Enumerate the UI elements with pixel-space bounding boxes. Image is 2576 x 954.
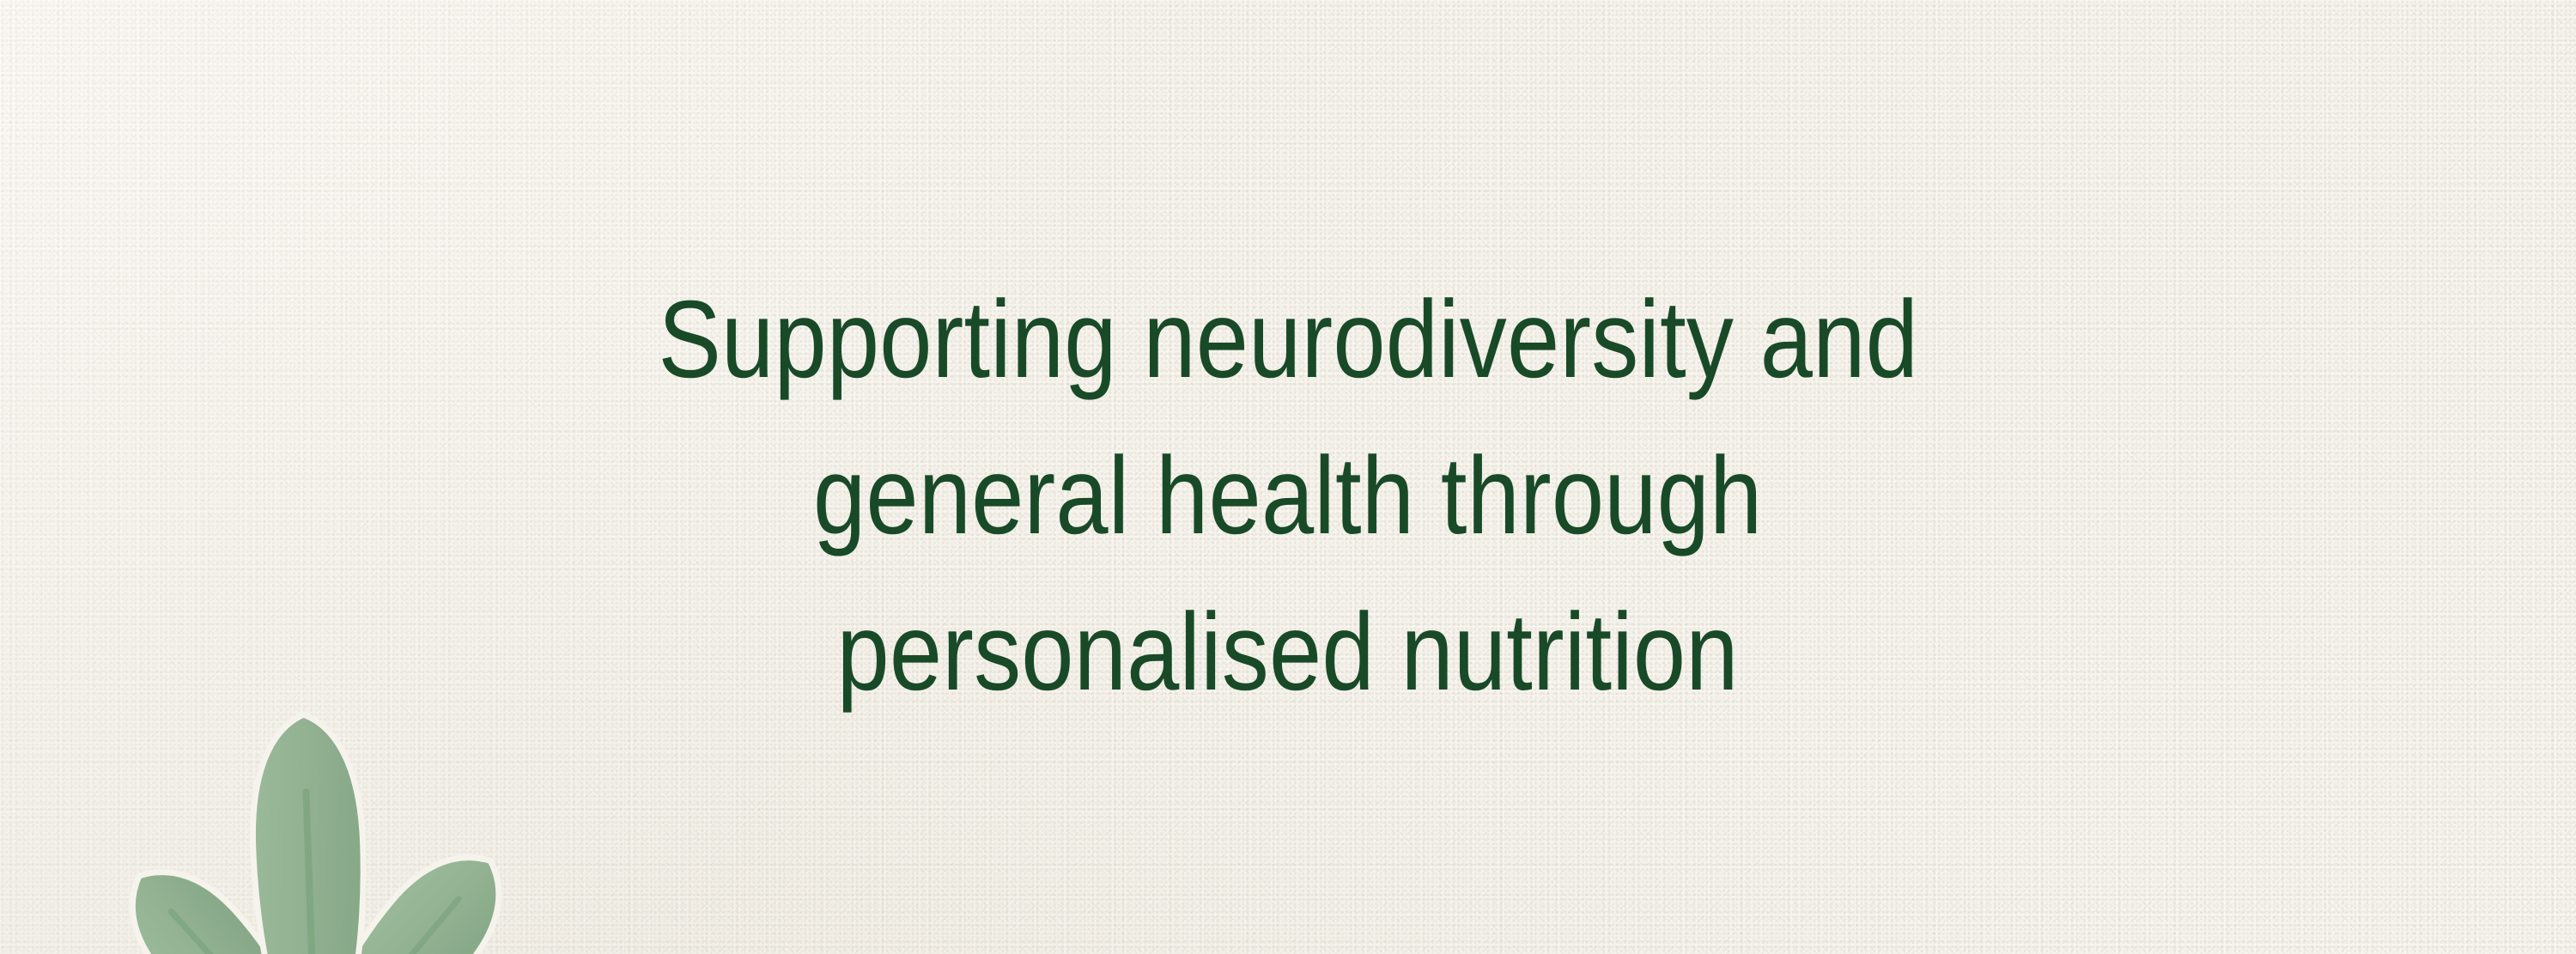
- headline-line-2: general health through: [813, 418, 1762, 574]
- headline-line-3: personalised nutrition: [837, 574, 1739, 731]
- headline-line-1: Supporting neurodiversity and: [658, 262, 1918, 418]
- promo-banner: Supporting neurodiversity and general he…: [0, 0, 2576, 954]
- headline-block: Supporting neurodiversity and general he…: [0, 0, 2576, 954]
